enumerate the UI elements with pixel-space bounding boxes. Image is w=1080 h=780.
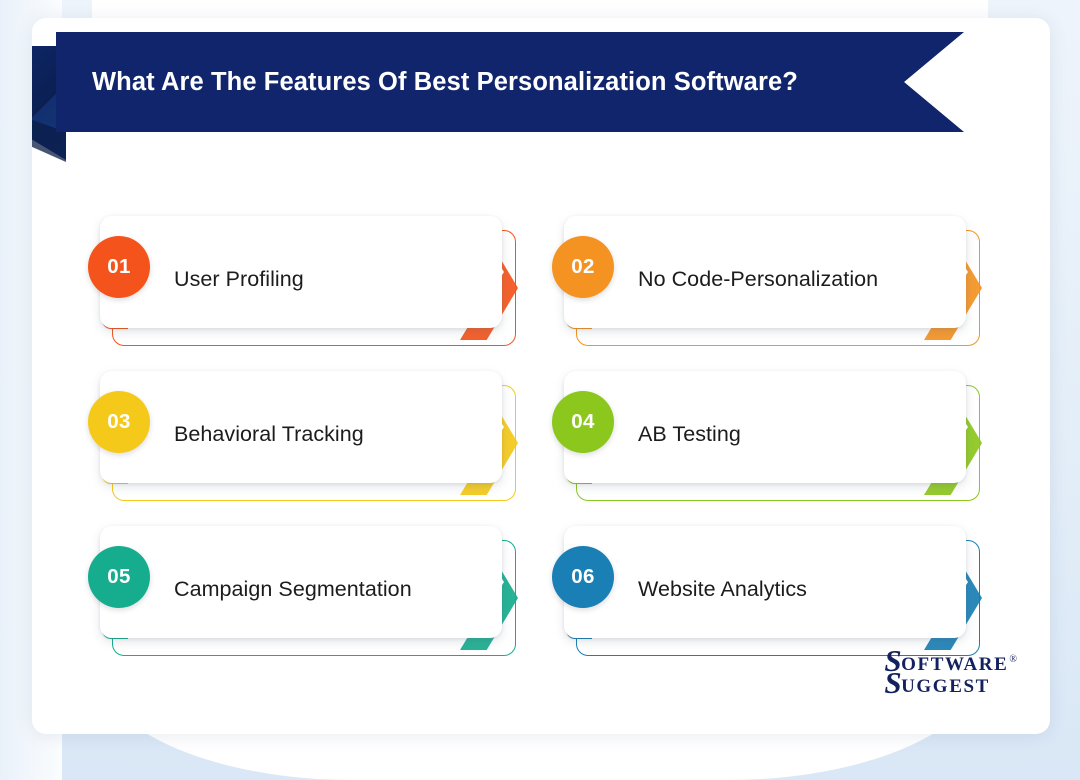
feature-card-04[interactable]: 04 AB Testing [552,363,1004,505]
feature-number-badge-05: 05 [88,546,150,608]
registered-trademark-icon: ® [1009,655,1017,665]
title-ribbon: What Are The Features Of Best Personaliz… [32,32,1050,152]
brand-logo: S oftware ® S uggest [884,645,1016,698]
page-title: What Are The Features Of Best Personaliz… [56,68,798,97]
feature-card-05[interactable]: 05 Campaign Segmentation [88,518,540,660]
feature-label-05: Campaign Segmentation [174,518,412,660]
logo-line-1: S oftware ® [884,645,1016,676]
logo-word-software: oftware [901,655,1008,674]
feature-list: 01 User Profiling 02 No Code-Personaliza… [88,208,1004,660]
feature-card-03[interactable]: 03 Behavioral Tracking [88,363,540,505]
feature-number-badge-03: 03 [88,391,150,453]
feature-label-03: Behavioral Tracking [174,363,364,505]
feature-number-badge-02: 02 [552,236,614,298]
feature-label-01: User Profiling [174,208,304,350]
feature-card-06[interactable]: 06 Website Analytics [552,518,1004,660]
feature-card-01[interactable]: 01 User Profiling [88,208,540,350]
feature-label-06: Website Analytics [638,518,807,660]
feature-card-02[interactable]: 02 No Code-Personalization [552,208,1004,350]
infographic-sheet: What Are The Features Of Best Personaliz… [32,18,1050,734]
feature-label-02: No Code-Personalization [638,208,878,350]
feature-number-badge-01: 01 [88,236,150,298]
feature-label-04: AB Testing [638,363,741,505]
logo-s-glyph-2: S [884,667,901,698]
feature-number-badge-04: 04 [552,391,614,453]
feature-number-badge-06: 06 [552,546,614,608]
ribbon-body: What Are The Features Of Best Personaliz… [56,32,964,132]
logo-word-suggest: uggest [901,677,990,696]
